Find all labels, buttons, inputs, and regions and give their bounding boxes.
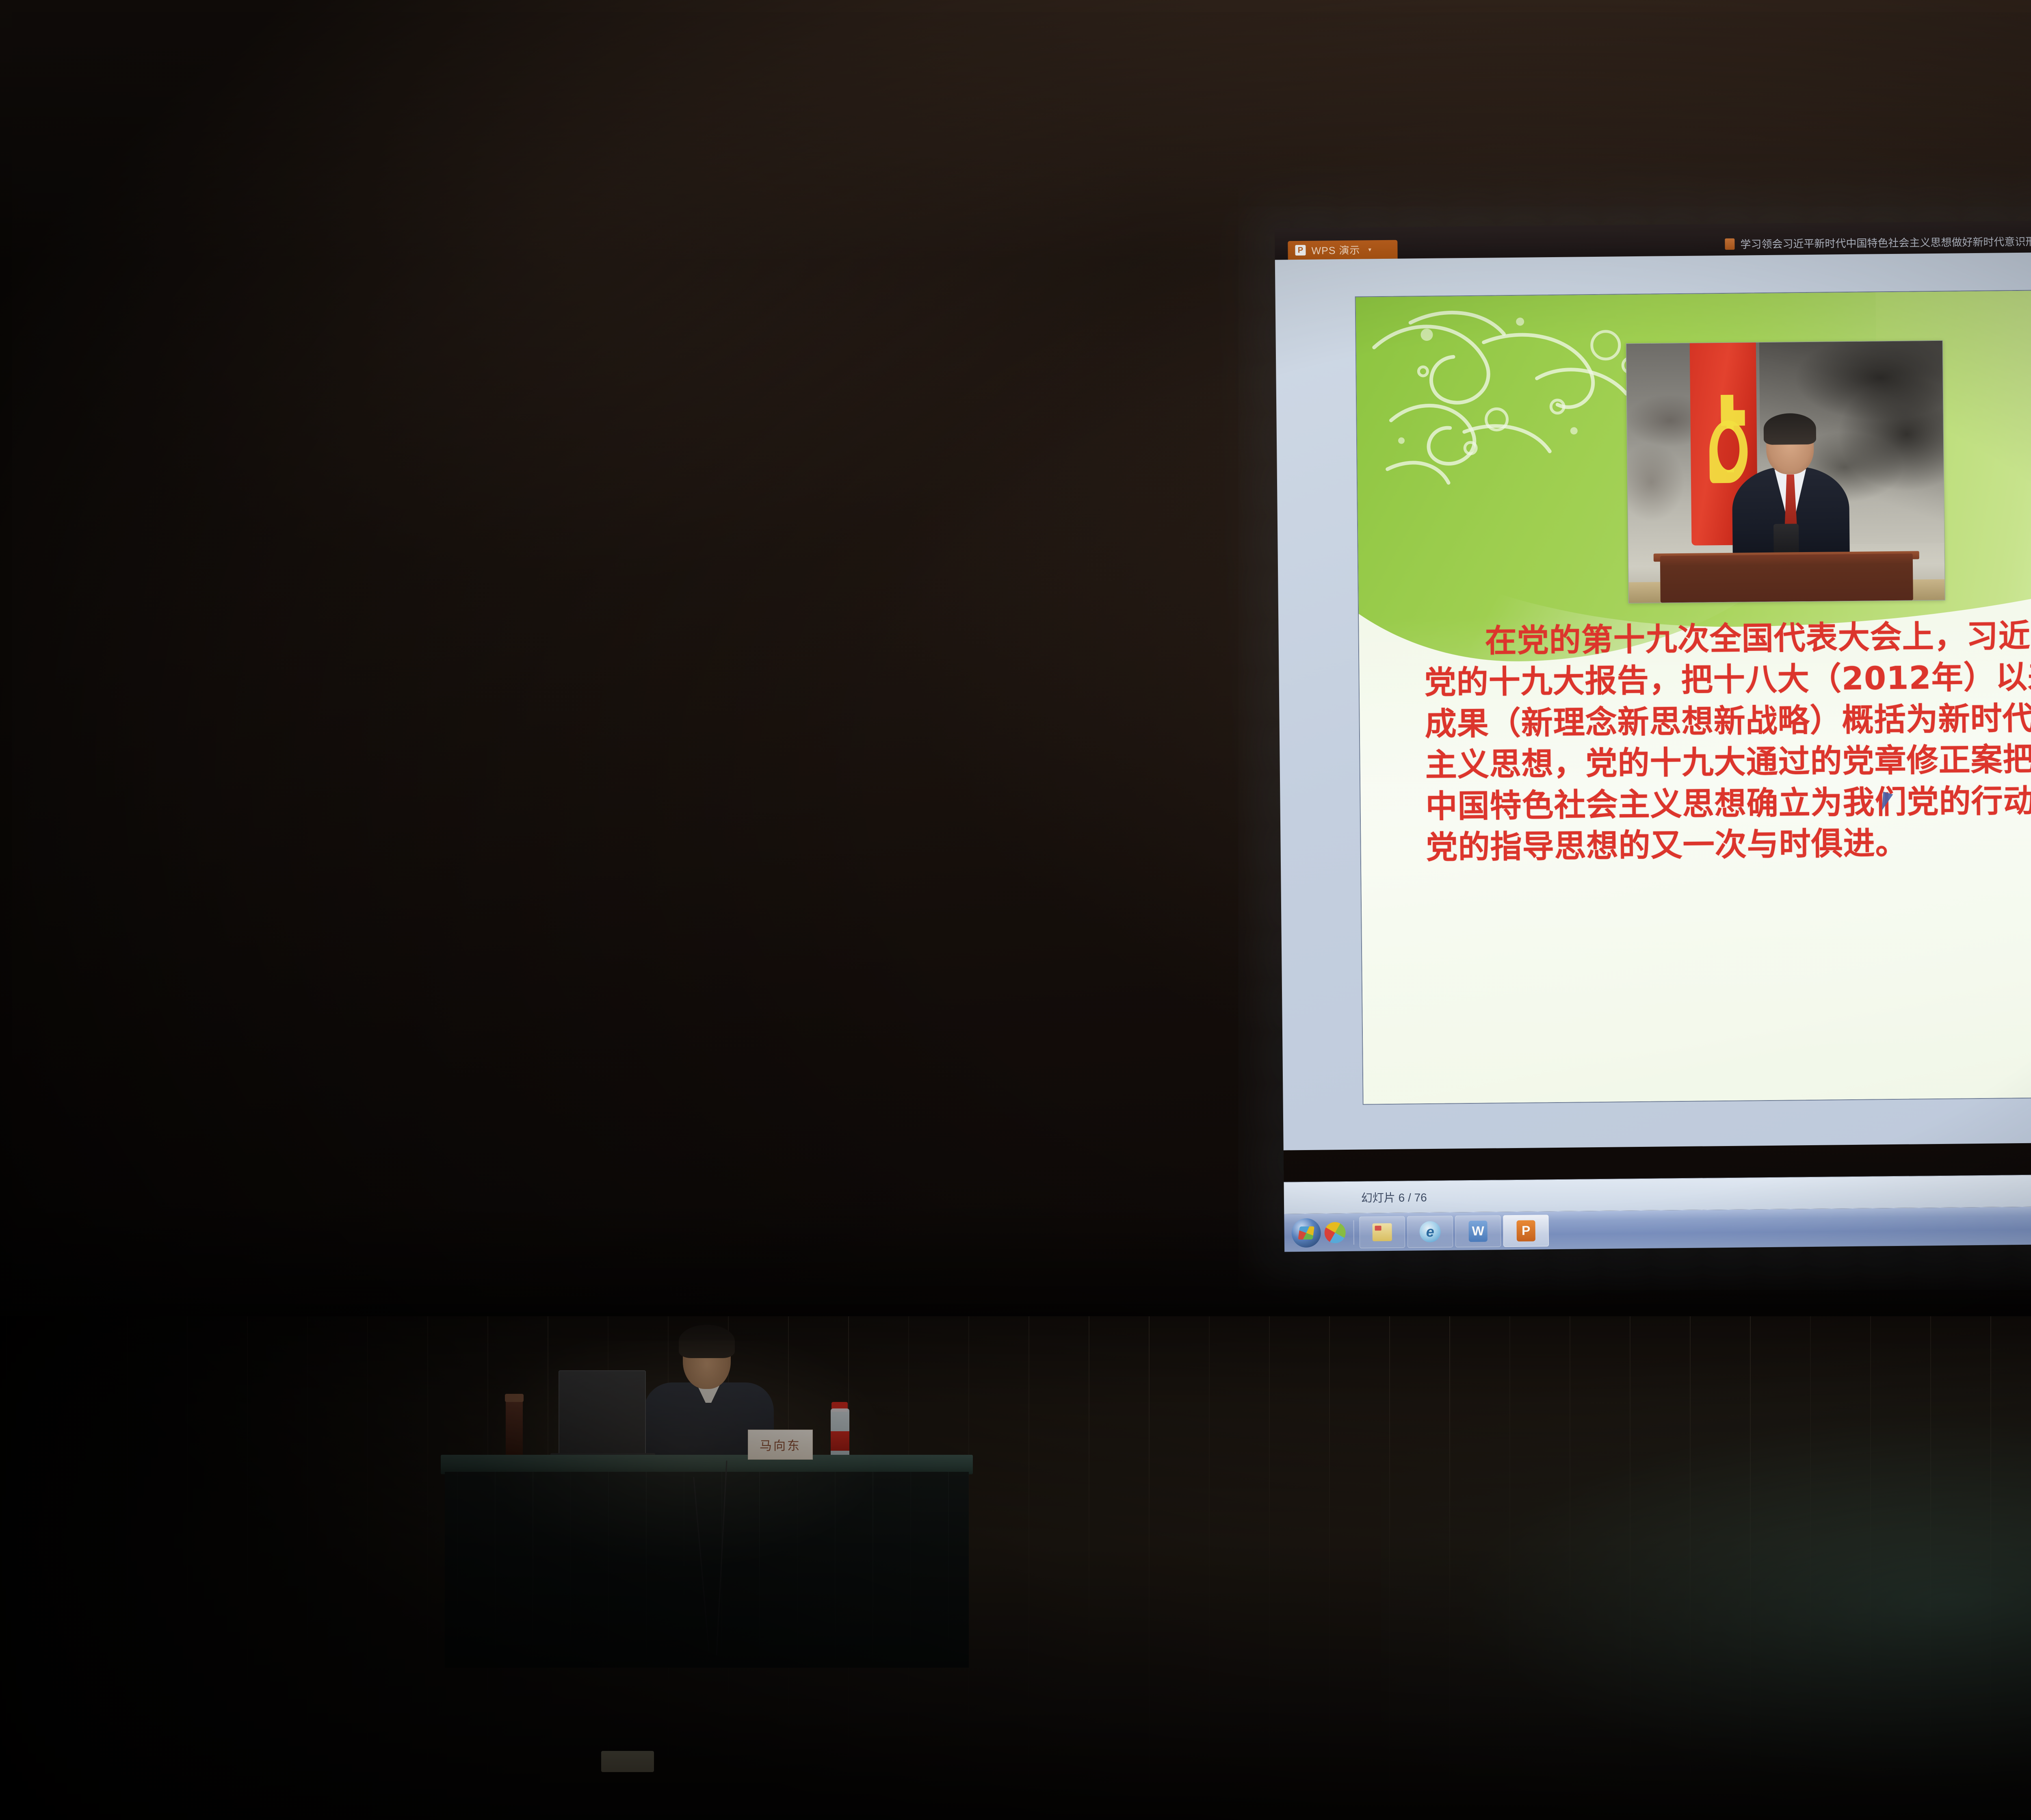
power-strip [601,1751,654,1772]
floor-plank [1089,1316,1089,1820]
stage-floor-green-light [1381,1341,2031,1820]
floor-plank [1329,1316,1330,1820]
floral-swirl-icon [1362,296,1672,526]
document-title-group: 学习领会习近平新时代中国特色社会主义思想做好新时代意识形态和宣传思想文化工作.p… [1725,232,2031,251]
podium [1660,554,1913,603]
laptop-screen [559,1370,646,1456]
cloth-fold [495,1472,496,1668]
chevron-down-icon[interactable]: ▾ [1368,246,1371,253]
cloth-fold [910,1472,911,1668]
cloth-fold [684,1472,684,1668]
colorful-app-icon [1324,1222,1345,1243]
slide-counter: 幻灯片 6 / 76 [1361,1189,1427,1206]
document-title: 学习领会习近平新时代中国特色社会主义思想做好新时代意识形态和宣传思想文化工作.p… [1740,232,2031,251]
floor-plank [1269,1316,1270,1820]
quick-launch-button[interactable] [1321,1218,1349,1247]
cloth-fold [948,1472,949,1668]
slide-photo [1626,340,1945,603]
document-icon [1725,238,1734,249]
cloth-fold [533,1472,533,1668]
status-bar: 幻灯片 6 / 76 ‹ ▤ › [1284,1168,2031,1213]
cloth-fold [646,1472,647,1668]
nameplate: 马向东 [748,1430,813,1460]
taskbar-divider [1353,1220,1354,1244]
table-top [441,1455,973,1474]
thermos-cap [505,1394,524,1402]
wps-writer-icon: W [1468,1220,1487,1241]
tab-wps-presentation[interactable]: P WPS 演示 ▾ [1288,240,1397,260]
taskbar-item-file-manager[interactable] [1359,1216,1405,1248]
presenter-hair [679,1325,735,1358]
auditorium-scene: P WPS 演示 ▾ 学习领会习近平新时代中国特色社会主义思想做好新时代意识形态… [0,0,2031,1820]
folder-icon [1373,1223,1392,1241]
wps-presentation-taskbar-icon: P [1516,1220,1535,1241]
taskbar-item-wps-presentation[interactable]: P [1503,1215,1549,1247]
water-bottle-label [831,1431,849,1451]
cloth-fold [759,1472,760,1668]
cloth-fold [608,1472,609,1668]
floor-plank [1209,1316,1210,1820]
wps-presentation-icon: P [1295,245,1306,256]
nameplate-text: 马向东 [760,1436,801,1454]
tab-label: WPS 演示 [1311,243,1360,258]
windows-logo-icon [1298,1226,1314,1239]
thermos-flask [506,1398,523,1459]
wps-presentation-window[interactable]: P WPS 演示 ▾ 学习领会习近平新时代中国特色社会主义思想做好新时代意识形态… [1275,215,2031,1252]
slide-body-text: 在党的第十九次全国代表大会上，习近平总书记作了党的十九大报告，把十八大（2012… [1424,611,2031,869]
presenter-table-group: 马向东 [441,1359,973,1668]
cloth-fold [457,1472,458,1668]
floor-plank [1149,1316,1150,1820]
speaker-hair [1764,413,1817,445]
slide-workspace: 在党的第十九次全国代表大会上，习近平总书记作了党的十九大报告，把十八大（2012… [1275,247,2031,1150]
taskbar-item-wps-writer[interactable]: W [1455,1215,1501,1247]
cloth-fold [570,1472,571,1668]
cloth-fold [797,1472,798,1668]
taskbar-item-internet-explorer[interactable]: e [1407,1215,1453,1248]
start-button[interactable] [1291,1218,1321,1248]
cloth-fold [835,1472,836,1668]
cloth-fold [873,1472,873,1668]
slide-canvas[interactable]: 在党的第十九次全国代表大会上，习近平总书记作了党的十九大报告，把十八大（2012… [1355,285,2031,1105]
floor-plank [1028,1316,1029,1820]
internet-explorer-icon: e [1419,1221,1440,1242]
